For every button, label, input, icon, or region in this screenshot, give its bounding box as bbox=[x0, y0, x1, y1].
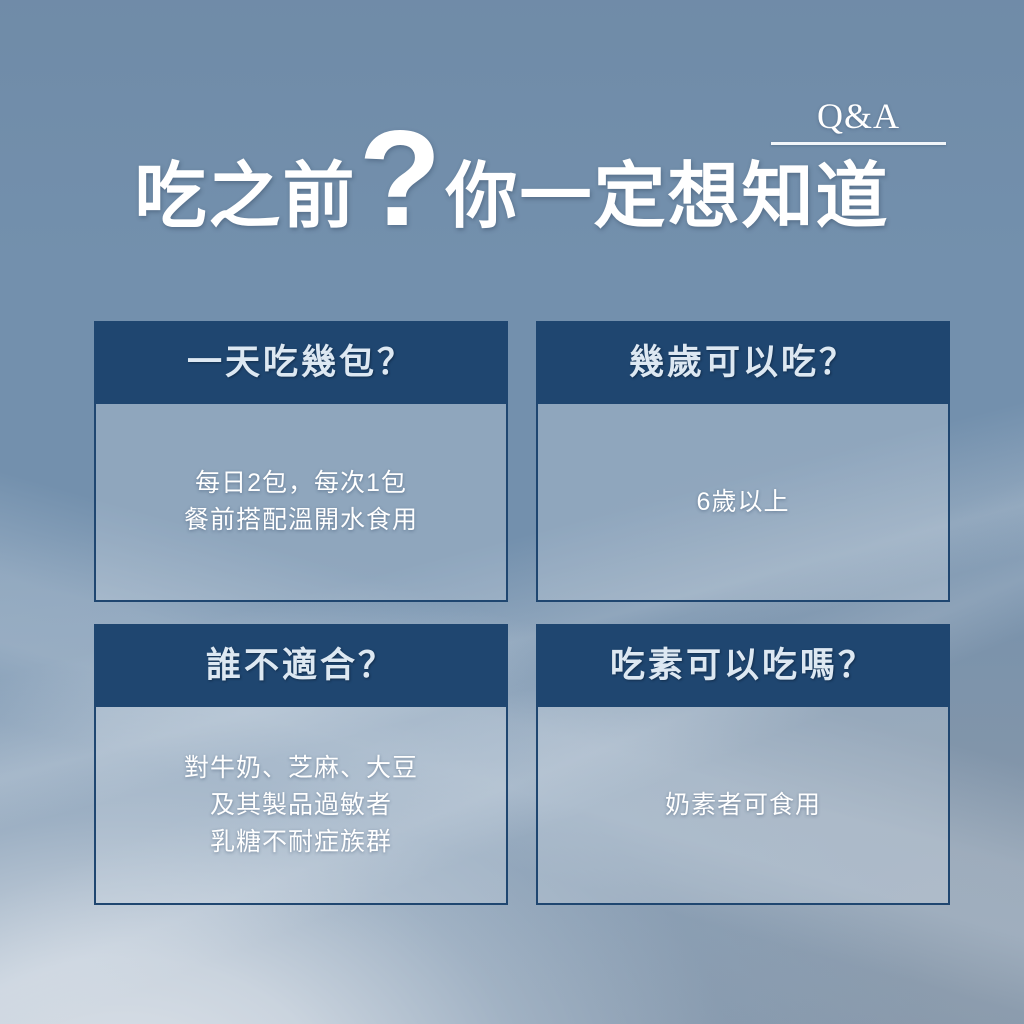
qa-answer-line: 奶素者可食用 bbox=[665, 787, 821, 824]
qa-question-label: 吃素可以吃嗎？ bbox=[610, 648, 876, 683]
qa-card-body: 對牛奶、芝麻、大豆 及其製品過敏者 乳糖不耐症族群 bbox=[94, 707, 508, 905]
headline-first-segment: 吃之前 bbox=[134, 161, 356, 233]
qa-card-grid: 一天吃幾包？ 每日2包，每次1包 餐前搭配溫開水食用 幾歲可以吃？ 6歲以上 bbox=[94, 321, 950, 905]
qa-answer-text: 每日2包，每次1包 餐前搭配溫開水食用 bbox=[184, 465, 418, 539]
qa-question-label: 幾歲可以吃？ bbox=[629, 345, 857, 380]
qa-card-header: 吃素可以吃嗎？ bbox=[536, 624, 950, 707]
qa-badge-underline bbox=[771, 142, 946, 145]
question-mark-icon: ? bbox=[358, 130, 441, 228]
qa-card-body: 6歲以上 bbox=[536, 404, 950, 602]
qa-card-age: 幾歲可以吃？ 6歲以上 bbox=[536, 321, 950, 602]
qa-answer-line: 餐前搭配溫開水食用 bbox=[184, 502, 418, 539]
qa-card-dosage: 一天吃幾包？ 每日2包，每次1包 餐前搭配溫開水食用 bbox=[94, 321, 508, 602]
qa-question-label: 一天吃幾包？ bbox=[187, 345, 415, 380]
qa-answer-line: 對牛奶、芝麻、大豆 bbox=[184, 750, 418, 787]
qa-card-contraindication: 誰不適合？ 對牛奶、芝麻、大豆 及其製品過敏者 乳糖不耐症族群 bbox=[94, 624, 508, 905]
qa-badge: Q&A bbox=[771, 98, 946, 145]
qa-answer-text: 奶素者可食用 bbox=[665, 787, 821, 824]
qa-poster: Q&A 吃之前 ? 你一定想知道 一天吃幾包？ 每日2包，每次1包 餐前搭配溫開… bbox=[0, 0, 1024, 1024]
qa-badge-label: Q&A bbox=[771, 98, 946, 140]
qa-answer-line: 每日2包，每次1包 bbox=[184, 465, 418, 502]
qa-answer-line: 乳糖不耐症族群 bbox=[184, 824, 418, 861]
qa-card-header: 誰不適合？ bbox=[94, 624, 508, 707]
page-title: 吃之前 ? 你一定想知道 bbox=[0, 148, 1024, 246]
qa-card-header: 幾歲可以吃？ bbox=[536, 321, 950, 404]
qa-card-body: 奶素者可食用 bbox=[536, 707, 950, 905]
qa-answer-text: 6歲以上 bbox=[697, 484, 790, 521]
qa-answer-text: 對牛奶、芝麻、大豆 及其製品過敏者 乳糖不耐症族群 bbox=[184, 750, 418, 861]
headline-second-segment: 你一定想知道 bbox=[446, 161, 890, 233]
qa-answer-line: 及其製品過敏者 bbox=[184, 787, 418, 824]
qa-card-body: 每日2包，每次1包 餐前搭配溫開水食用 bbox=[94, 404, 508, 602]
qa-question-label: 誰不適合？ bbox=[206, 648, 396, 683]
poster-header: Q&A 吃之前 ? 你一定想知道 bbox=[0, 0, 1024, 300]
qa-card-header: 一天吃幾包？ bbox=[94, 321, 508, 404]
qa-answer-line: 6歲以上 bbox=[697, 484, 790, 521]
qa-card-vegetarian: 吃素可以吃嗎？ 奶素者可食用 bbox=[536, 624, 950, 905]
